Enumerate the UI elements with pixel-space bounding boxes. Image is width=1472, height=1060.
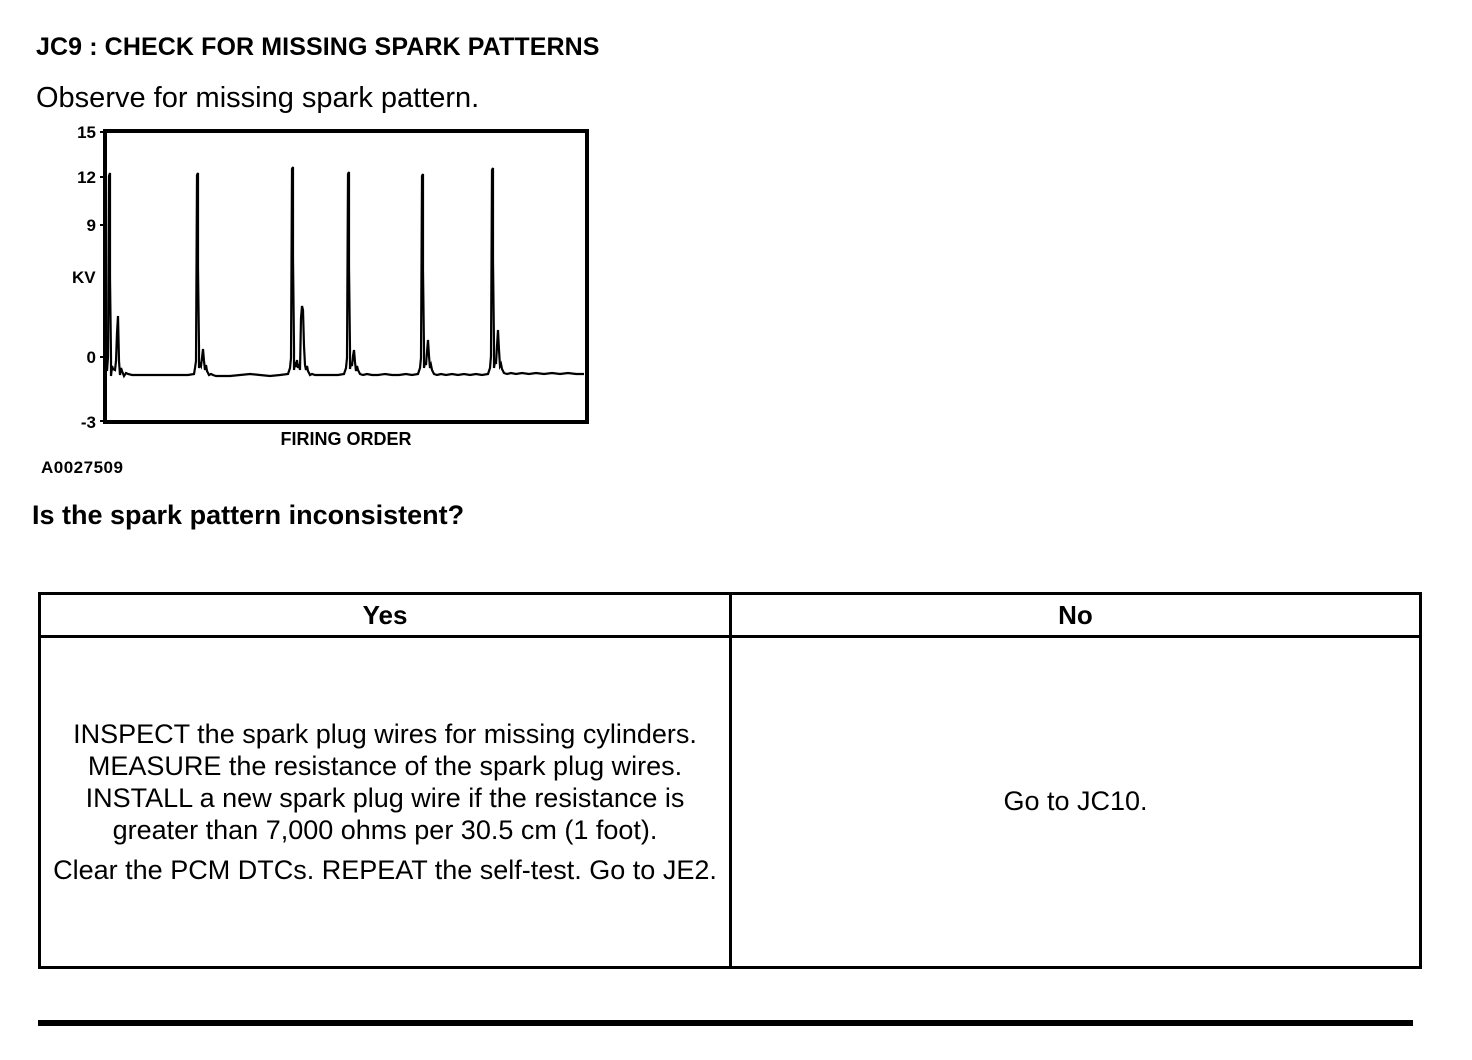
y-tick-label-0: 0 — [87, 348, 96, 367]
y-tick-label-15: 15 — [77, 123, 96, 142]
y-tick-label-9: 9 — [87, 216, 96, 235]
x-axis-label: FIRING ORDER — [280, 429, 411, 448]
decision-table: Yes No INSPECT the spark plug wires for … — [38, 592, 1422, 969]
plot-frame — [105, 131, 587, 422]
table-row: INSPECT the spark plug wires for missing… — [40, 637, 1421, 968]
decision-question: Is the spark pattern inconsistent? — [32, 500, 464, 531]
cell-yes-action: INSPECT the spark plug wires for missing… — [40, 637, 731, 968]
column-header-no: No — [731, 594, 1421, 637]
waveform-trace — [107, 167, 584, 376]
bottom-divider — [38, 1020, 1413, 1026]
yes-action-paragraph-2: Clear the PCM DTCs. REPEAT the self-test… — [41, 855, 729, 887]
page-root: JC9 : CHECK FOR MISSING SPARK PATTERNS O… — [0, 0, 1472, 1060]
page-title: JC9 : CHECK FOR MISSING SPARK PATTERNS — [36, 33, 600, 62]
y-tick-label-minus3: -3 — [81, 413, 96, 432]
oscilloscope-figure: 15 12 9 0 -3 KV FIRING ORDER A0027509 — [36, 118, 616, 478]
figure-id-label: A0027509 — [41, 458, 123, 478]
cell-no-action: Go to JC10. — [731, 637, 1421, 968]
no-action-paragraph-1: Go to JC10. — [732, 786, 1419, 818]
instruction-text: Observe for missing spark pattern. — [36, 82, 479, 115]
table-header-row: Yes No — [40, 594, 1421, 637]
y-tick-label-12: 12 — [77, 168, 96, 187]
spark-pattern-waveform-chart: 15 12 9 0 -3 KV FIRING ORDER — [36, 118, 616, 448]
y-axis-label: KV — [72, 268, 96, 287]
yes-action-paragraph-1: INSPECT the spark plug wires for missing… — [41, 719, 729, 846]
column-header-yes: Yes — [40, 594, 731, 637]
